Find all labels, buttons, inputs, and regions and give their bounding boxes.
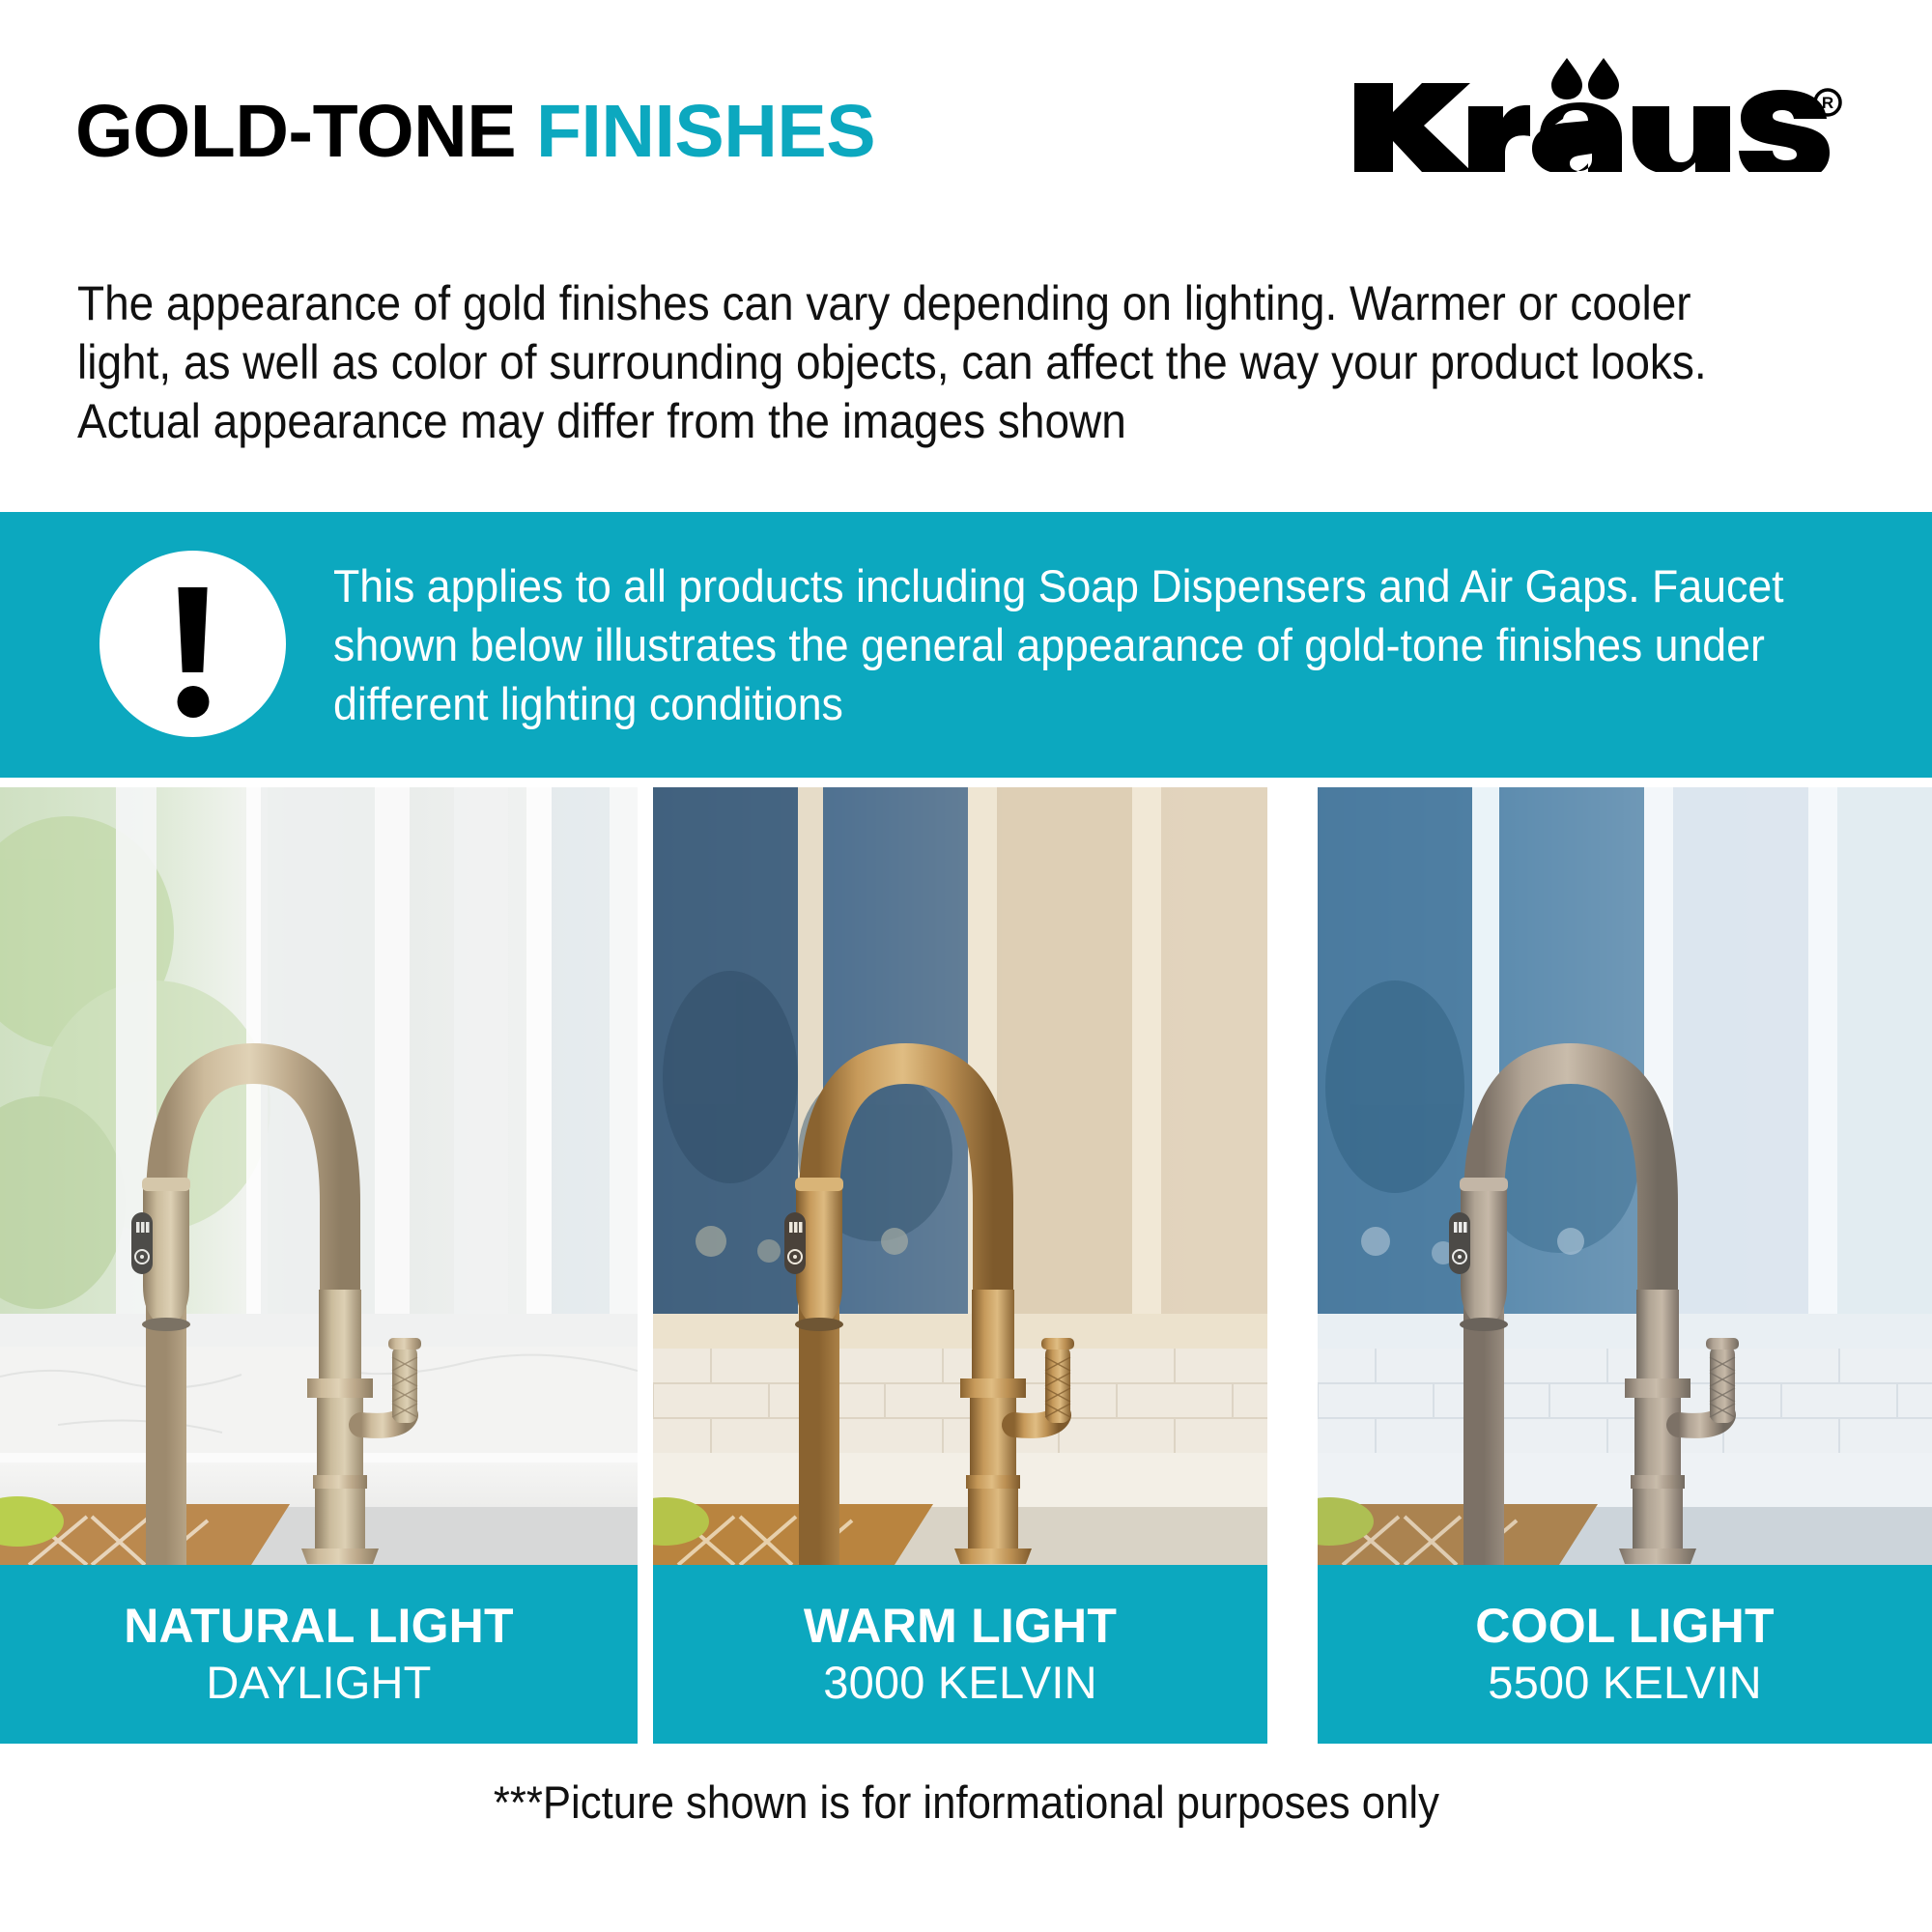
kraus-logo: R xyxy=(1350,46,1853,172)
caption-warm-light: WARM LIGHT 3000 KELVIN xyxy=(653,1565,1267,1744)
panel-warm-light xyxy=(653,787,1267,1565)
intro-paragraph: The appearance of gold finishes can vary… xyxy=(77,274,1721,451)
page-title-primary: GOLD-TONE xyxy=(75,90,516,173)
gold-tone-finishes-infographic: GOLD-TONE FINISHES xyxy=(0,0,1932,1932)
faucet-photo-warm-light xyxy=(653,787,1267,1565)
caption-natural-light: NATURAL LIGHT DAYLIGHT xyxy=(0,1565,638,1744)
faucet-photo-cool-light xyxy=(1318,787,1932,1565)
panel-cool-light xyxy=(1318,787,1932,1565)
caption-main-label: COOL LIGHT xyxy=(1475,1599,1774,1653)
caption-main-label: WARM LIGHT xyxy=(804,1599,1117,1653)
header: GOLD-TONE FINISHES xyxy=(0,0,1932,512)
panel-natural-light xyxy=(0,787,638,1565)
caption-sub-label: DAYLIGHT xyxy=(206,1657,431,1709)
footer-disclaimer-text: ***Picture shown is for informational pu… xyxy=(493,1776,1438,1829)
faucet-comparison-panels xyxy=(0,787,1932,1565)
alert-message: This applies to all products including S… xyxy=(333,556,1802,733)
faucet-photo-natural-light xyxy=(0,787,638,1565)
footer-disclaimer: ***Picture shown is for informational pu… xyxy=(0,1776,1932,1829)
exclamation-icon xyxy=(99,551,286,737)
exclamation-bar xyxy=(176,587,211,672)
caption-bars: NATURAL LIGHT DAYLIGHT WARM LIGHT 3000 K… xyxy=(0,1565,1932,1744)
svg-text:R: R xyxy=(1822,94,1833,112)
exclamation-dot xyxy=(177,686,209,718)
caption-sub-label: 3000 KELVIN xyxy=(823,1657,1097,1709)
page-title-accent: FINISHES xyxy=(536,90,875,173)
caption-sub-label: 5500 KELVIN xyxy=(1488,1657,1762,1709)
caption-main-label: NATURAL LIGHT xyxy=(124,1599,513,1653)
alert-banner: This applies to all products including S… xyxy=(0,512,1932,778)
page-title: GOLD-TONE FINISHES xyxy=(75,95,875,169)
caption-cool-light: COOL LIGHT 5500 KELVIN xyxy=(1318,1565,1932,1744)
